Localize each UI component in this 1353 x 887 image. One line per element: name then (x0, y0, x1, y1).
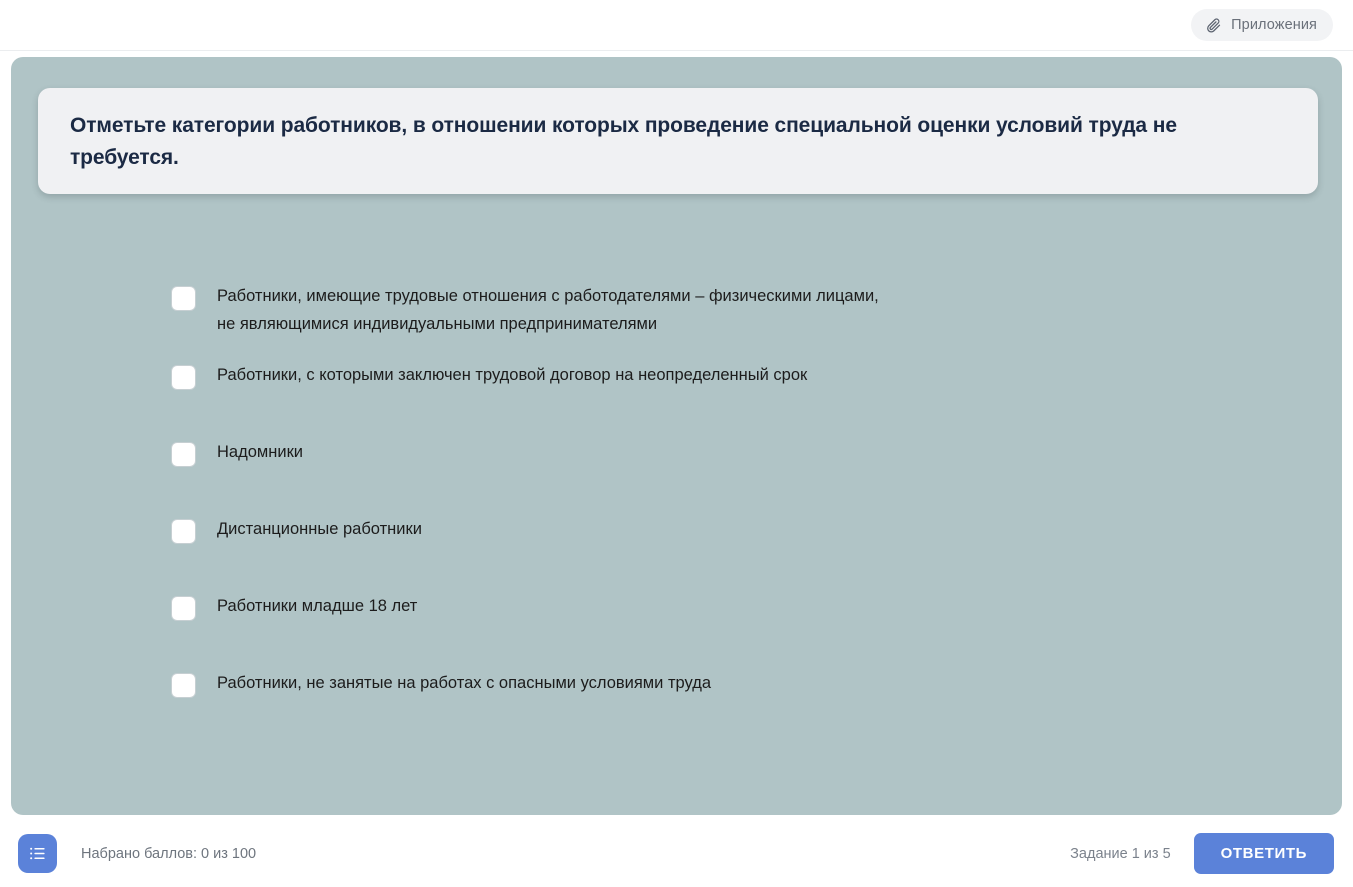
option-row[interactable]: Надомники (171, 437, 1231, 473)
option-label: Работники, с которыми заключен трудовой … (217, 360, 807, 389)
option-label: Дистанционные работники (217, 514, 422, 543)
option-row[interactable]: Работники, не занятые на работах с опасн… (171, 668, 1231, 704)
top-bar: Приложения (0, 0, 1353, 51)
checkbox-option-3[interactable] (171, 442, 196, 467)
option-label: Работники младше 18 лет (217, 591, 417, 620)
score-text: Набрано баллов: 0 из 100 (81, 846, 256, 862)
option-row[interactable]: Работники, с которыми заключен трудовой … (171, 360, 1231, 396)
bottom-bar: Набрано баллов: 0 из 100 Задание 1 из 5 … (0, 820, 1353, 887)
apps-button-label: Приложения (1231, 17, 1317, 33)
answer-button[interactable]: ОТВЕТИТЬ (1194, 833, 1334, 874)
checkbox-option-1[interactable] (171, 286, 196, 311)
option-label: Надомники (217, 437, 303, 466)
apps-button[interactable]: Приложения (1191, 9, 1333, 41)
question-card: Отметьте категории работников, в отношен… (38, 88, 1318, 194)
options-list: Работники, имеющие трудовые отношения с … (171, 281, 1231, 704)
option-label: Работники, имеющие трудовые отношения с … (217, 281, 879, 338)
checkbox-option-4[interactable] (171, 519, 196, 544)
option-row[interactable]: Работники, имеющие трудовые отношения с … (171, 281, 1231, 338)
list-icon (28, 844, 47, 863)
option-row[interactable]: Работники младше 18 лет (171, 591, 1231, 627)
question-text: Отметьте категории работников, в отношен… (70, 110, 1288, 174)
paperclip-icon (1205, 17, 1222, 34)
question-list-button[interactable] (18, 834, 57, 873)
task-counter: Задание 1 из 5 (1070, 846, 1170, 862)
quiz-panel: Отметьте категории работников, в отношен… (11, 57, 1342, 815)
checkbox-option-5[interactable] (171, 596, 196, 621)
option-label: Работники, не занятые на работах с опасн… (217, 668, 711, 697)
checkbox-option-2[interactable] (171, 365, 196, 390)
option-row[interactable]: Дистанционные работники (171, 514, 1231, 550)
checkbox-option-6[interactable] (171, 673, 196, 698)
